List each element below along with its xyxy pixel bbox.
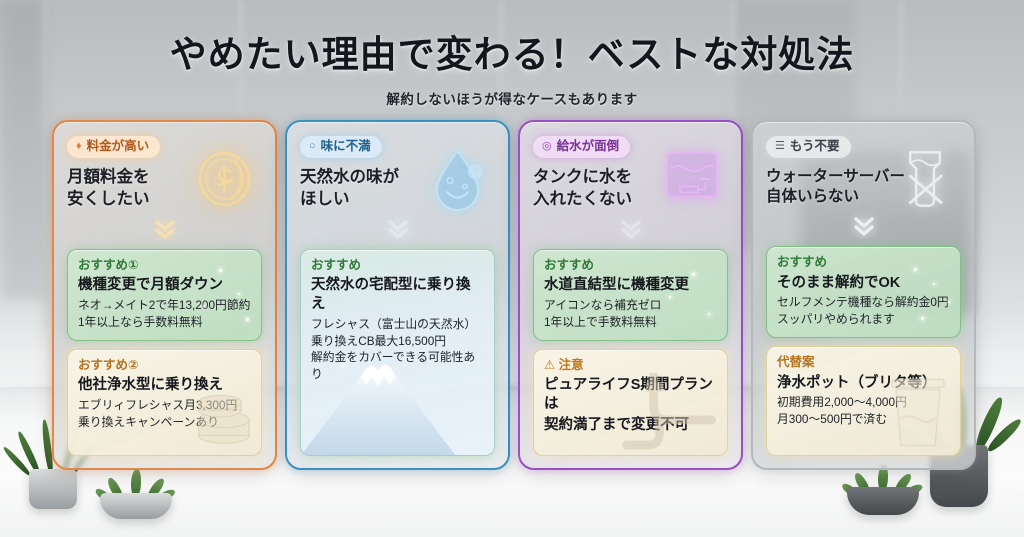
card-headline: 月額料金を 安くしたい	[67, 167, 262, 211]
panel-label: ⚠ 注意	[544, 358, 717, 374]
panel-heading: 他社浄水型に乗り換え	[78, 376, 251, 395]
infographic-canvas: やめたい理由で変わる！ベストな対処法 解約しないほうが得なケースもあります ♦ …	[0, 0, 1024, 537]
badge-no-longer-needed: ☰ もう不要	[766, 136, 851, 158]
recommendation-panel-1[interactable]: おすすめ 水道直結型に機種変更 アイコンなら補充ゼロ 1年以上で手数料無料	[533, 249, 728, 341]
panel-body: フレシャス（富士山の天然水） 乗り換えCB最大16,500円 解約金をカバーでき…	[311, 316, 484, 383]
panel-body: セルフメンテ機種なら解約金0円 スッパリやめられます	[777, 294, 950, 328]
alternative-panel[interactable]: 代替案 浄水ポット（ブリタ等） 初期費用2,000〜4,000円 月300〜50…	[766, 346, 961, 456]
card-headline: ウォーターサーバー 自体いらない	[766, 167, 961, 208]
recommendation-panel-1[interactable]: おすすめ そのまま解約でOK セルフメンテ機種なら解約金0円 スッパリやめられま…	[766, 246, 961, 338]
badge-price-too-high: ♦ 料金が高い	[67, 136, 160, 158]
badge-label: もう不要	[790, 139, 840, 154]
recommendation-panel-2[interactable]: おすすめ② 他社浄水型に乗り換え エブリィフレシャス月3,300円 乗り換えキャ…	[67, 349, 262, 457]
panel-label: おすすめ	[544, 258, 717, 274]
plant-left-succulent	[95, 463, 177, 519]
panel-body: エブリィフレシャス月3,300円 乗り換えキャンペーンあり	[78, 397, 251, 431]
double-chevron-down-icon	[618, 217, 644, 239]
card-price-too-high[interactable]: ♦ 料金が高い 月額料金を 安くしたい おすすめ① 機種変更で月額ダウン ネオ→…	[52, 120, 277, 470]
card-headline: タンクに水を 入れたくない	[533, 167, 728, 211]
recommendation-panel-1[interactable]: おすすめ 天然水の宅配型に乗り換え フレシャス（富士山の天然水） 乗り換えCB最…	[300, 249, 495, 456]
panel-heading: そのまま解約でOK	[777, 274, 950, 293]
water-drop-icon: ○	[309, 141, 316, 152]
badge-label: 料金が高い	[87, 139, 150, 154]
panel-heading: ピュアライフS期間プランは	[544, 376, 717, 414]
page-subtitle: 解約しないほうが得なケースもあります	[0, 88, 1024, 108]
badge-taste-dissatisfied: ○ 味に不満	[300, 136, 382, 158]
panel-heading: 天然水の宅配型に乗り換え	[311, 276, 484, 314]
badge-label: 給水が面倒	[557, 139, 620, 154]
card-headline: 天然水の味が ほしい	[300, 167, 495, 211]
panel-label: おすすめ	[311, 258, 484, 274]
badge-refill-hassle: ◎ 給水が面倒	[533, 136, 630, 158]
panel-body: アイコンなら補充ゼロ 1年以上で手数料無料	[544, 297, 717, 331]
card-no-longer-needed[interactable]: ☰ もう不要 ウォーターサーバー 自体いらない おすすめ そのまま解約でOK セ…	[751, 120, 976, 470]
double-chevron-down-icon	[851, 214, 877, 236]
panel-label: 代替案	[777, 355, 950, 371]
double-chevron-down-icon	[152, 217, 178, 239]
flame-drop-icon: ♦	[76, 141, 82, 152]
panel-body: 初期費用2,000〜4,000円 月300〜500円で済む	[777, 394, 950, 428]
card-row: ♦ 料金が高い 月額料金を 安くしたい おすすめ① 機種変更で月額ダウン ネオ→…	[52, 120, 976, 470]
header: やめたい理由で変わる！ベストな対処法 解約しないほうが得なケースもあります	[0, 24, 1024, 108]
panel-heading-line2: 契約満了まで変更不可	[544, 416, 717, 435]
panel-label: おすすめ②	[78, 358, 251, 374]
panel-heading: 水道直結型に機種変更	[544, 276, 717, 295]
double-chevron-down-icon	[385, 217, 411, 239]
panel-heading: 機種変更で月額ダウン	[78, 276, 251, 295]
page-title: やめたい理由で変わる！ベストな対処法	[0, 24, 1024, 78]
document-icon: ☰	[775, 141, 785, 152]
badge-label: 味に不満	[321, 139, 371, 154]
panel-heading: 浄水ポット（ブリタ等）	[777, 374, 950, 393]
recommendation-panel-1[interactable]: おすすめ① 機種変更で月額ダウン ネオ→メイト2で年13,200円節約 1年以上…	[67, 249, 262, 341]
panel-label: おすすめ	[777, 255, 950, 271]
panel-body: ネオ→メイト2で年13,200円節約 1年以上なら手数料無料	[78, 297, 251, 331]
panel-label: おすすめ①	[78, 258, 251, 274]
warning-panel[interactable]: ⚠ 注意 ピュアライフS期間プランは 契約満了まで変更不可	[533, 349, 728, 457]
card-refill-hassle[interactable]: ◎ 給水が面倒 タンクに水を 入れたくない おすすめ 水道直結型に機種変更 アイ…	[518, 120, 743, 470]
card-taste-dissatisfied[interactable]: ○ 味に不満 天然水の味が ほしい	[285, 120, 510, 470]
recycle-water-icon: ◎	[542, 141, 552, 152]
